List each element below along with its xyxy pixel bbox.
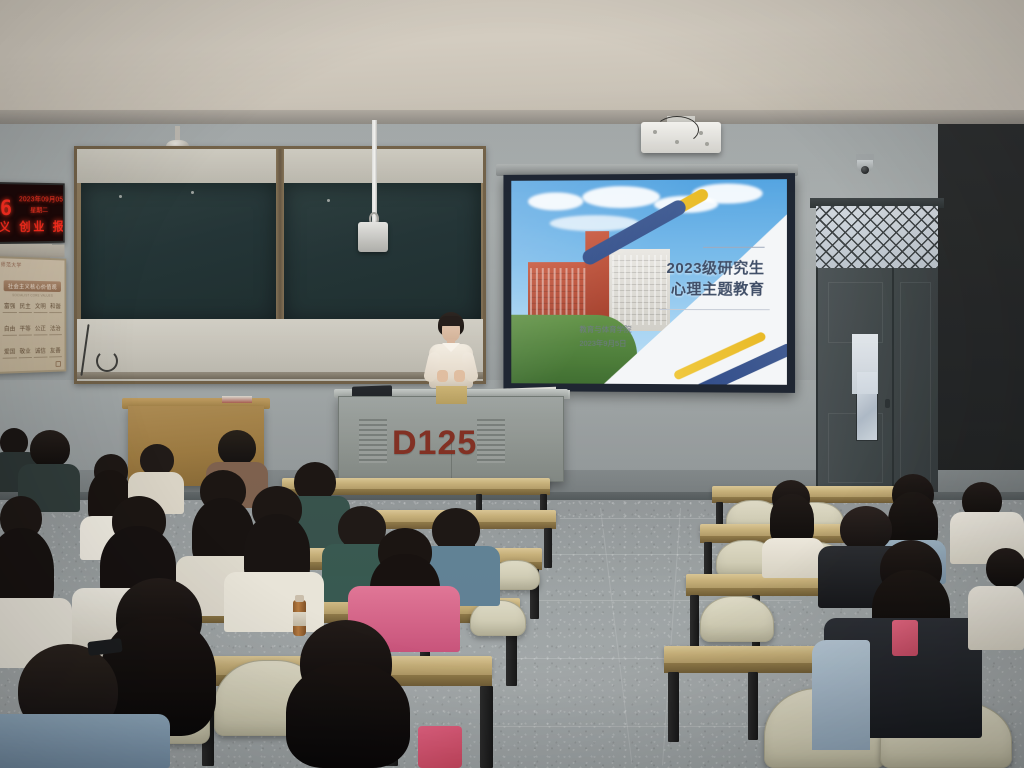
camera-lens-icon <box>861 166 869 174</box>
poster-value: 友善 <box>49 346 62 358</box>
poster-value: 民主 <box>18 301 32 313</box>
presenter-skirt <box>436 386 467 404</box>
slide-divider-bottom <box>659 309 770 310</box>
lectern-papers <box>222 396 252 403</box>
slide-org: 教育与体育学院 <box>579 323 631 337</box>
pink-bag <box>892 620 918 656</box>
led-big-number: 6 <box>0 196 12 220</box>
poster-banner-title: 社会主义核心价值观 <box>4 280 61 292</box>
poster-value: 敬业 <box>18 346 32 358</box>
led-date: 2023年09月05日 <box>19 194 65 204</box>
console-vent-left <box>359 419 387 463</box>
poster-value: 自由 <box>3 324 17 336</box>
poster-value: 爱国 <box>3 347 17 359</box>
projection-screen[interactable]: 2023级研究生 心理主题教育 教育与体育学院 2023年9月5日 <box>503 173 795 393</box>
wall-light-panel <box>852 334 878 394</box>
poster-value: 平等 <box>18 324 32 336</box>
poster-logo: 师范大学 <box>1 261 22 269</box>
lattice-grille-icon <box>816 206 938 268</box>
slide-date: 2023年9月5日 <box>579 337 631 351</box>
slide-divider-top <box>703 247 764 248</box>
slide-title-line1: 2023级研究生 <box>667 257 765 279</box>
presenter-hand-left <box>437 370 448 382</box>
presenter <box>424 312 478 404</box>
classroom-scene: 2023级研究生 心理主题教育 教育与体育学院 2023年9月5日 6 <box>0 0 1024 768</box>
slide-title: 2023级研究生 心理主题教育 <box>667 257 765 301</box>
door-seam <box>892 268 894 502</box>
led-display-board: 6 2023年09月05日 星期二 义 创业 报国 <box>0 182 65 244</box>
bottle-label <box>293 612 306 626</box>
poster-value: 公正 <box>34 324 47 336</box>
poster-values-grid: 富强 民主 文明 和谐 自由 平等 公正 法治 爱国 敬业 诚信 友善 <box>3 301 62 359</box>
microphone-pole <box>372 120 377 224</box>
door-inset-3 <box>900 282 931 483</box>
poster-value: 和谐 <box>49 301 62 313</box>
pink-bag-foreground <box>418 726 462 768</box>
ceiling-highlight <box>824 0 1024 124</box>
door-transom-window <box>816 206 938 268</box>
lecture-seat[interactable] <box>700 596 774 642</box>
console-vent-right <box>477 419 505 463</box>
room-number-label: D125 <box>392 424 477 463</box>
wall-cable-loop <box>96 350 118 372</box>
chalk-tray <box>77 319 483 381</box>
poster-value: 法治 <box>49 324 62 336</box>
led-weekday: 星期二 <box>30 204 48 214</box>
poster-seal-icon <box>56 361 61 367</box>
slide-subtitle: 教育与体育学院 2023年9月5日 <box>579 323 631 352</box>
poster-value: 富强 <box>3 301 17 313</box>
presenter-hand-right <box>454 370 465 382</box>
hanging-microphone <box>358 222 388 252</box>
slide-title-line2: 心理主题教育 <box>667 279 765 301</box>
poster-english-subtitle: SOCIALIST CORE VALUES <box>6 293 60 298</box>
presentation-slide: 2023级研究生 心理主题教育 教育与体育学院 2023年9月5日 <box>511 179 787 385</box>
poster-value: 文明 <box>34 301 47 313</box>
core-values-poster: 师范大学 社会主义核心价值观 SOCIALIST CORE VALUES 富强 … <box>0 256 66 374</box>
led-scroll-text: 义 创业 报国 <box>0 218 65 235</box>
blackboard-panel-right <box>283 183 481 323</box>
projector-cable <box>655 116 699 144</box>
presenter-bangs <box>439 316 463 326</box>
door-handle[interactable] <box>885 399 890 408</box>
poster-value: 诚信 <box>34 346 47 358</box>
blackboard-panel-left <box>81 183 277 323</box>
bottle-cap <box>295 595 304 602</box>
